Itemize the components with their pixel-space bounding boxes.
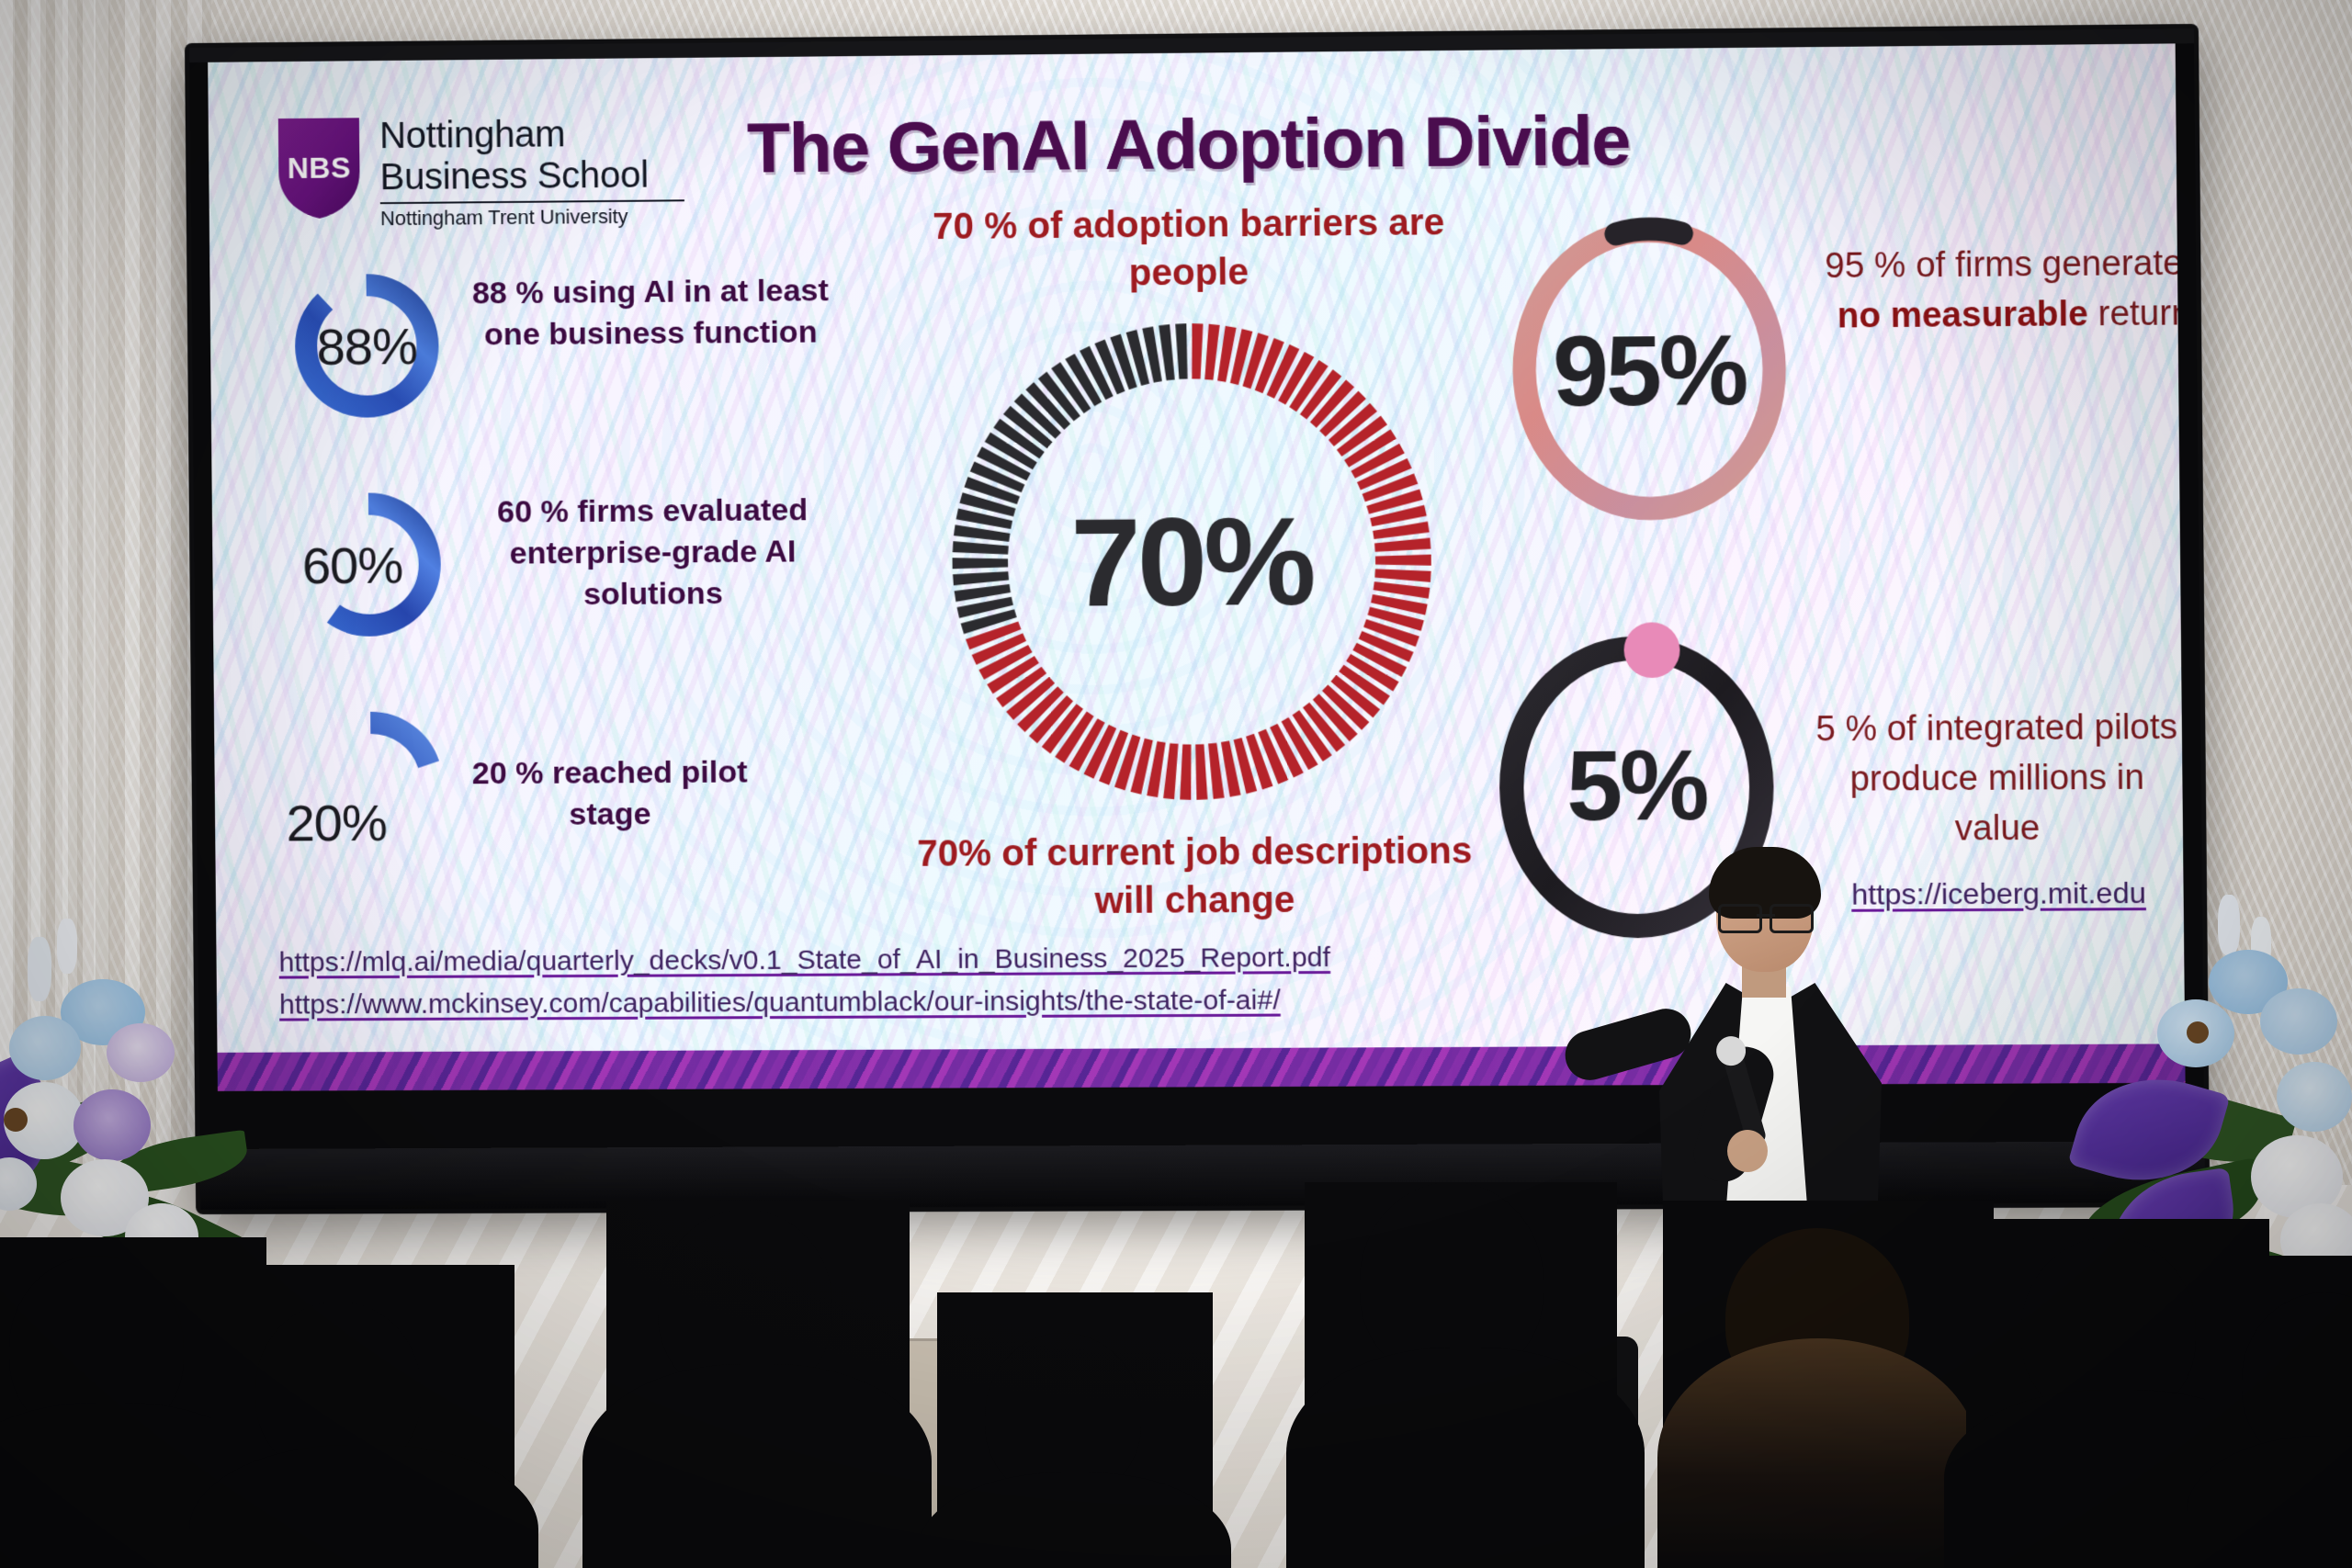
center-stat-column: 70 % of adoption barriers are people 70%… [891, 198, 1492, 926]
stat-95: 95% 95 % of firms generated no measurabl… [1486, 203, 2186, 607]
logo-divider [380, 199, 684, 204]
stat-95-text-b: return [2088, 294, 2186, 333]
left-stats-column: 88% 88 % using AI in at least one busine… [263, 265, 859, 926]
stat-88-label: 88 % using AI in at least one business f… [457, 270, 845, 356]
conference-stage-scene: NBS Nottingham Business School Nottingha… [0, 0, 2352, 1568]
stat-88: 88% 88 % using AI in at least one busine… [263, 265, 854, 454]
center-bottom-caption: 70% of current job descriptions will cha… [898, 827, 1493, 926]
stat-5-label: 5 % of integrated pilots produce million… [1809, 703, 2185, 855]
slide-title: The GenAI Adoption Divide [209, 97, 2177, 193]
stat-20-value: 20% [258, 745, 414, 900]
audience-member [937, 1292, 1213, 1568]
stat-60-label: 60 % firms evaluated enterprise-grade AI… [458, 490, 847, 616]
stat-95-text-bold: no measurable [1837, 295, 2087, 336]
audience-member [1305, 1182, 1617, 1568]
audience-member [606, 1201, 910, 1568]
stat-95-text-a: 95 % of firms generated [1825, 243, 2186, 286]
audience-member [211, 1265, 514, 1568]
audience-member [2205, 1256, 2352, 1568]
presenter-glasses-icon [1718, 904, 1814, 928]
presenter-hand [1727, 1130, 1768, 1172]
stat-95-value: 95% [1498, 207, 1800, 533]
stat-20-label: 20 % reached pilot stage [458, 751, 763, 836]
segmented-donut-70-icon: 70% [940, 311, 1444, 812]
logo-line-3: Nottingham Trent University [380, 204, 684, 231]
stat-60-value: 60% [275, 487, 431, 642]
stat-88-value: 88% [288, 268, 445, 424]
donut-70-value: 70% [940, 311, 1444, 812]
center-top-caption: 70 % of adoption barriers are people [891, 198, 1486, 299]
stat-95-label: 95 % of firms generated no measurable re… [1813, 238, 2186, 342]
stat-20: 20% 20 % reached pilot stage [267, 704, 859, 891]
stat-60: 60% 60 % firms evaluated enterprise-grad… [266, 484, 857, 672]
